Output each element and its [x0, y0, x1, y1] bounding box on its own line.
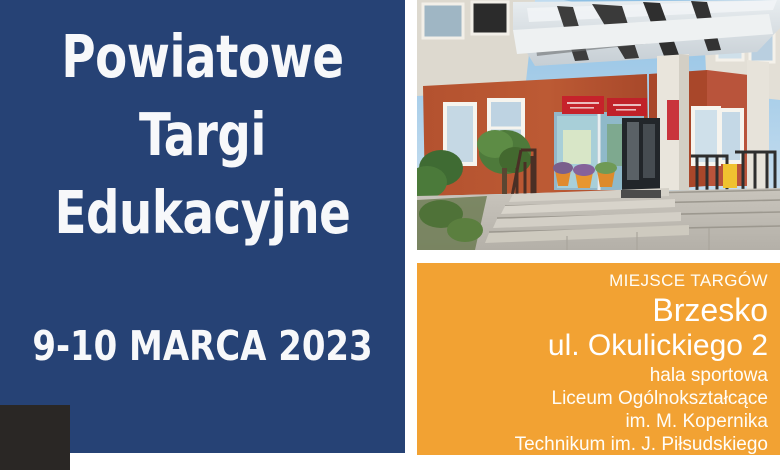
school-entrance-photo: [417, 0, 780, 250]
title-line-2: Targi: [24, 96, 380, 174]
venue-street: ul. Okulickiego 2: [427, 328, 768, 364]
venue-detail-4: Technikum im. J. Piłsudskiego: [427, 433, 768, 456]
title-line-1: Powiatowe: [24, 18, 380, 96]
poster-root: Powiatowe Targi Edukacyjne 9-10 MARCA 20…: [0, 0, 780, 470]
corner-accent-block: [0, 405, 70, 470]
event-date: 9-10 MARCA 2023: [16, 322, 389, 370]
title-line-3: Edukacyjne: [24, 174, 380, 252]
venue-label: MIEJSCE TARGÓW: [427, 269, 768, 292]
headline-panel: Powiatowe Targi Edukacyjne 9-10 MARCA 20…: [0, 0, 405, 453]
venue-detail-2: Liceum Ogólnokształcące: [427, 387, 768, 410]
poster-title: Powiatowe Targi Edukacyjne: [0, 18, 405, 252]
venue-detail-1: hala sportowa: [427, 364, 768, 387]
photo-illustration: [417, 0, 780, 250]
venue-detail-3: im. M. Kopernika: [427, 410, 768, 433]
venue-panel: MIEJSCE TARGÓW Brzesko ul. Okulickiego 2…: [417, 263, 780, 455]
venue-info: MIEJSCE TARGÓW Brzesko ul. Okulickiego 2…: [427, 269, 768, 456]
venue-city: Brzesko: [427, 292, 768, 328]
